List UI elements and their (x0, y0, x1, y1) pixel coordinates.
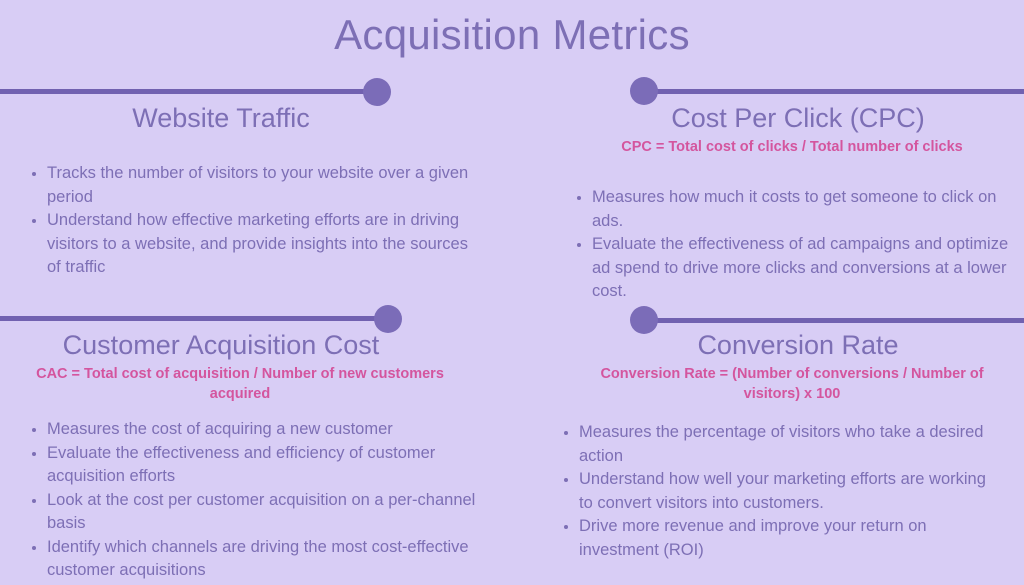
list-item: Understand how effective marketing effor… (30, 209, 470, 280)
list-item: Look at the cost per customer acquisitio… (30, 489, 476, 536)
list-item: Identify which channels are driving the … (30, 536, 476, 583)
list-item: Evaluate the effectiveness and efficienc… (30, 442, 476, 489)
section-customer-acquisition-cost: Customer Acquisition Cost CAC = Total co… (0, 327, 512, 583)
section-cost-per-click: Cost Per Click (CPC) CPC = Total cost of… (512, 100, 1024, 304)
formula-cost-per-click: CPC = Total cost of clicks / Total numbe… (512, 137, 1024, 157)
bullet-list-website-traffic: Tracks the number of visitors to your we… (30, 162, 470, 280)
bullet-list-customer-acquisition-cost: Measures the cost of acquiring a new cus… (30, 418, 476, 583)
divider-line-bottom-right (654, 318, 1024, 323)
formula-customer-acquisition-cost: CAC = Total cost of acquisition / Number… (0, 364, 512, 404)
section-title-website-traffic: Website Traffic (0, 100, 512, 136)
list-item: Tracks the number of visitors to your we… (30, 162, 470, 209)
list-item: Measures the cost of acquiring a new cus… (30, 418, 476, 442)
list-item: Measures the percentage of visitors who … (562, 421, 988, 468)
bullet-list-conversion-rate: Measures the percentage of visitors who … (562, 421, 988, 562)
section-conversion-rate: Conversion Rate Conversion Rate = (Numbe… (512, 327, 1024, 562)
bullet-list-cost-per-click: Measures how much it costs to get someon… (575, 186, 1014, 304)
divider-line-top-left (0, 89, 366, 94)
formula-conversion-rate: Conversion Rate = (Number of conversions… (512, 364, 1024, 404)
divider-line-bottom-left (0, 316, 378, 321)
divider-line-top-right (654, 89, 1024, 94)
section-title-conversion-rate: Conversion Rate (512, 327, 1024, 363)
list-item: Understand how well your marketing effor… (562, 468, 988, 515)
section-website-traffic: Website Traffic Tracks the number of vis… (0, 100, 512, 280)
section-title-cost-per-click: Cost Per Click (CPC) (512, 100, 1024, 136)
page-title: Acquisition Metrics (0, 8, 1024, 62)
section-title-customer-acquisition-cost: Customer Acquisition Cost (0, 327, 512, 363)
list-item: Evaluate the effectiveness of ad campaig… (575, 233, 1014, 304)
list-item: Drive more revenue and improve your retu… (562, 515, 988, 562)
list-item: Measures how much it costs to get someon… (575, 186, 1014, 233)
